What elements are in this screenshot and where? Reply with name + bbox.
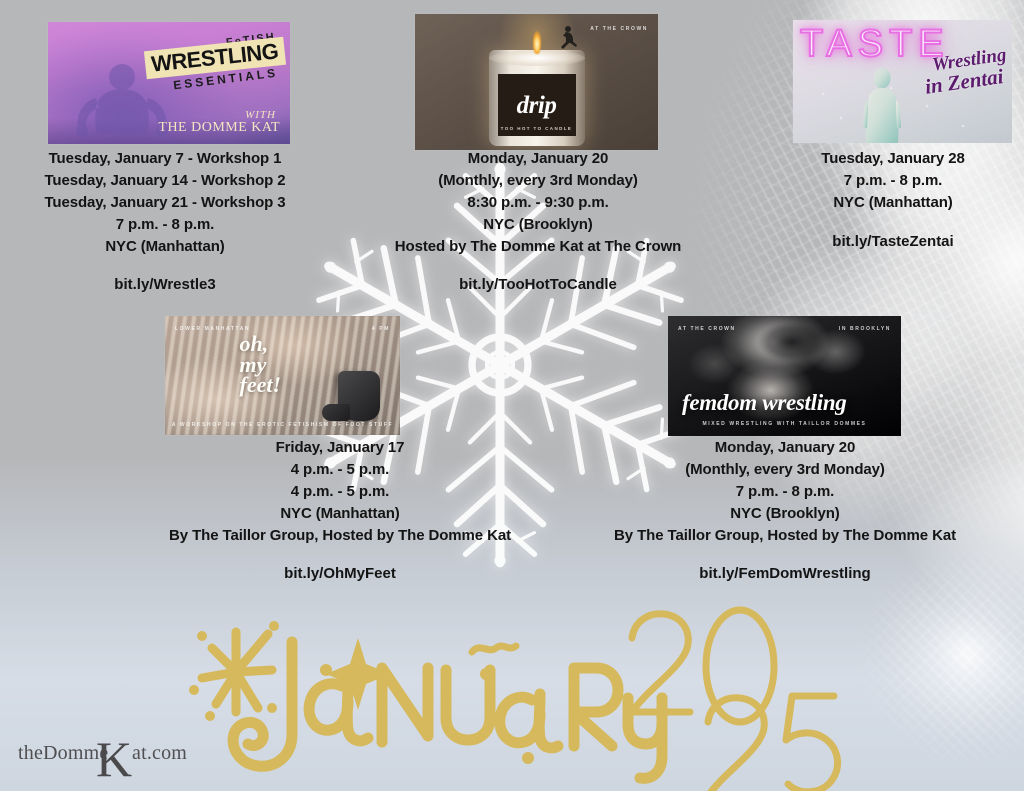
event-details-taste-zentai: Tuesday, January 28 7 p.m. - 8 p.m. NYC … (762, 148, 1024, 250)
event-line: 8:30 p.m. - 9:30 p.m. (343, 192, 733, 214)
event-line: 7 p.m. - 8 p.m. (0, 214, 330, 236)
event-link[interactable]: bit.ly/TooHotToCandle (343, 276, 733, 293)
year-title: 2025 (612, 604, 912, 791)
card-time-label: 4 PM (372, 326, 390, 332)
event-details-too-hot-to-candle: Monday, January 20 (Monthly, every 3rd M… (343, 148, 733, 293)
event-link[interactable]: bit.ly/TasteZentai (762, 233, 1024, 250)
sparkle-icon (821, 92, 825, 96)
event-line: Hosted by The Domme Kat at The Crown (343, 236, 733, 258)
event-line: 4 p.m. - 5 p.m. (130, 459, 550, 481)
event-line: NYC (Manhattan) (130, 503, 550, 525)
event-line: Monday, January 20 (343, 148, 733, 170)
event-line: 7 p.m. - 8 p.m. (762, 170, 1024, 192)
card-subtitle: MIXED WRESTLING WITH TAILLOR DOMMES (668, 421, 901, 427)
hair-shape (757, 322, 827, 362)
card-subtitle: TOO HOT TO CANDLE (498, 126, 576, 131)
month-title: JaNUaRy (176, 612, 646, 782)
event-line: NYC (Brooklyn) (343, 214, 733, 236)
event-line: Friday, January 17 (130, 437, 550, 459)
event-line: NYC (Manhattan) (0, 236, 330, 258)
event-line: (Monthly, every 3rd Monday) (343, 170, 733, 192)
card-venue-label: AT THE CROWN (678, 326, 736, 332)
event-card-taste-zentai[interactable]: TASTE Wrestling in Zentai (793, 20, 1012, 143)
event-line: Tuesday, January 28 (762, 148, 1024, 170)
candle-label: drip TOO HOT TO CANDLE (498, 74, 576, 136)
card-title-line3: feet! (240, 372, 282, 397)
card-title: femdom wrestling (682, 390, 847, 416)
sparkle-icon (961, 124, 965, 128)
brand-logo[interactable]: theDomme K at.com (8, 729, 188, 771)
event-details-fetish-wrestling-essentials: Tuesday, January 7 - Workshop 1 Tuesday,… (0, 148, 330, 293)
event-line: By The Taillor Group, Hosted by The Domm… (565, 525, 1005, 547)
event-line: 7 p.m. - 8 p.m. (565, 481, 1005, 503)
card-script-line2: in Zentai (881, 67, 1005, 104)
card-title: oh, my feet! (240, 334, 326, 396)
event-details-femdom-wrestling: Monday, January 20 (Monthly, every 3rd M… (565, 437, 1005, 582)
card-host: THE DOMME KAT (158, 120, 280, 136)
event-link[interactable]: bit.ly/OhMyFeet (130, 565, 550, 582)
event-line: Monday, January 20 (565, 437, 1005, 459)
boot-icon (338, 371, 380, 421)
card-subtitle: A WORKSHOP ON THE EROTIC FETISHISM OF FO… (165, 422, 400, 428)
event-details-oh-my-feet: Friday, January 17 4 p.m. - 5 p.m. 4 p.m… (130, 437, 550, 582)
event-line: 4 p.m. - 5 p.m. (130, 481, 550, 503)
candle-flame-icon (533, 28, 541, 54)
card-borough-label: IN BROOKLYN (839, 326, 891, 332)
event-line: Tuesday, January 7 - Workshop 1 (0, 148, 330, 170)
logo-k-letter: K (96, 739, 132, 779)
event-poster: FeTISH WRESTLING ESSENTIALS WITH THE DOM… (0, 0, 1024, 791)
event-card-femdom-wrestling[interactable]: AT THE CROWN IN BROOKLYN femdom wrestlin… (668, 316, 901, 436)
seated-figurine-icon (555, 24, 581, 54)
event-line: By The Taillor Group, Hosted by The Domm… (130, 525, 550, 547)
event-line: Tuesday, January 14 - Workshop 2 (0, 170, 330, 192)
event-link[interactable]: bit.ly/Wrestle3 (0, 276, 330, 293)
event-line: (Monthly, every 3rd Monday) (565, 459, 1005, 481)
event-line: Tuesday, January 21 - Workshop 3 (0, 192, 330, 214)
sparkle-icon (839, 116, 843, 120)
logo-prefix: theDomme (18, 742, 108, 765)
event-link[interactable]: bit.ly/FemDomWrestling (565, 565, 1005, 582)
event-card-too-hot-to-candle[interactable]: drip TOO HOT TO CANDLE AT THE CROWN (415, 14, 658, 150)
card-title: drip (517, 93, 557, 118)
logo-suffix: at.com (132, 742, 187, 765)
event-card-oh-my-feet[interactable]: LOWER MANHATTAN 4 PM oh, my feet! A WORK… (165, 316, 400, 435)
event-line: NYC (Manhattan) (762, 192, 1024, 214)
card-venue-label: AT THE CROWN (590, 26, 648, 32)
event-line: NYC (Brooklyn) (565, 503, 1005, 525)
event-card-fetish-wrestling-essentials[interactable]: FeTISH WRESTLING ESSENTIALS WITH THE DOM… (48, 22, 290, 144)
